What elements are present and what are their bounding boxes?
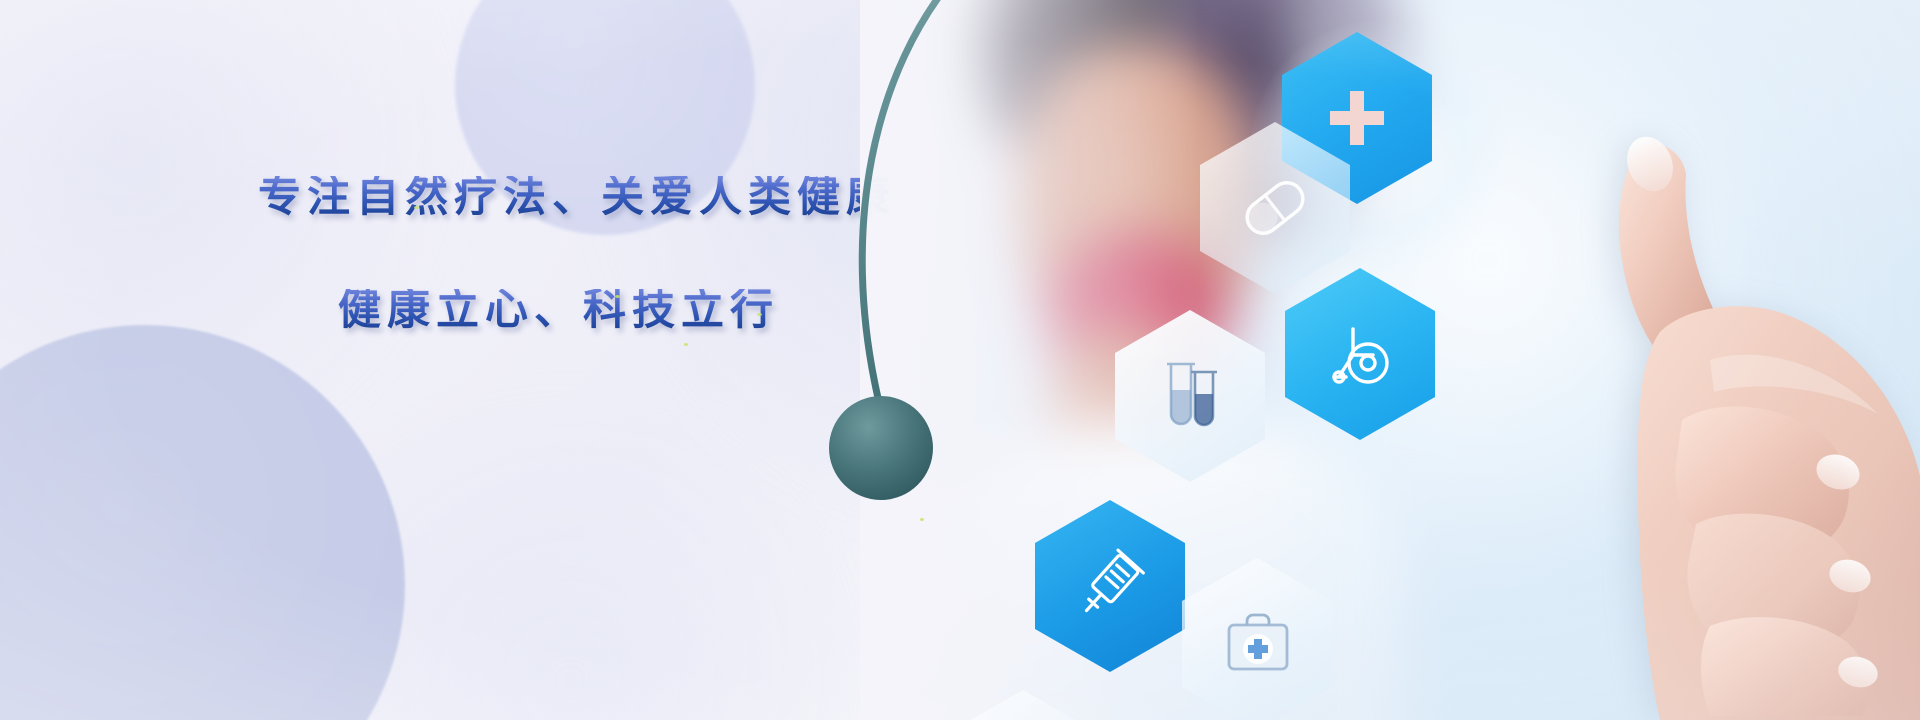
headline-line-1: 专注自然疗法、关爱人类健康 [258,176,918,219]
decorative-circle-bottom [0,325,405,720]
pointing-hand [1510,120,1920,720]
background-wash-bottom [250,420,890,720]
sparkle-dot [757,313,762,316]
stethoscope-arc [820,0,1120,540]
headline-block: 专注自然疗法、关爱人类健康 健康立心、科技立行 [258,176,918,332]
sparkle-dot [414,206,419,209]
sparkle-dot [684,343,688,346]
sparkle-dot [615,295,620,298]
wheelchair-icon[interactable] [1285,268,1435,440]
sparkle-dot [920,518,924,521]
hero-banner: 专注自然疗法、关爱人类健康 健康立心、科技立行 [0,0,1920,720]
